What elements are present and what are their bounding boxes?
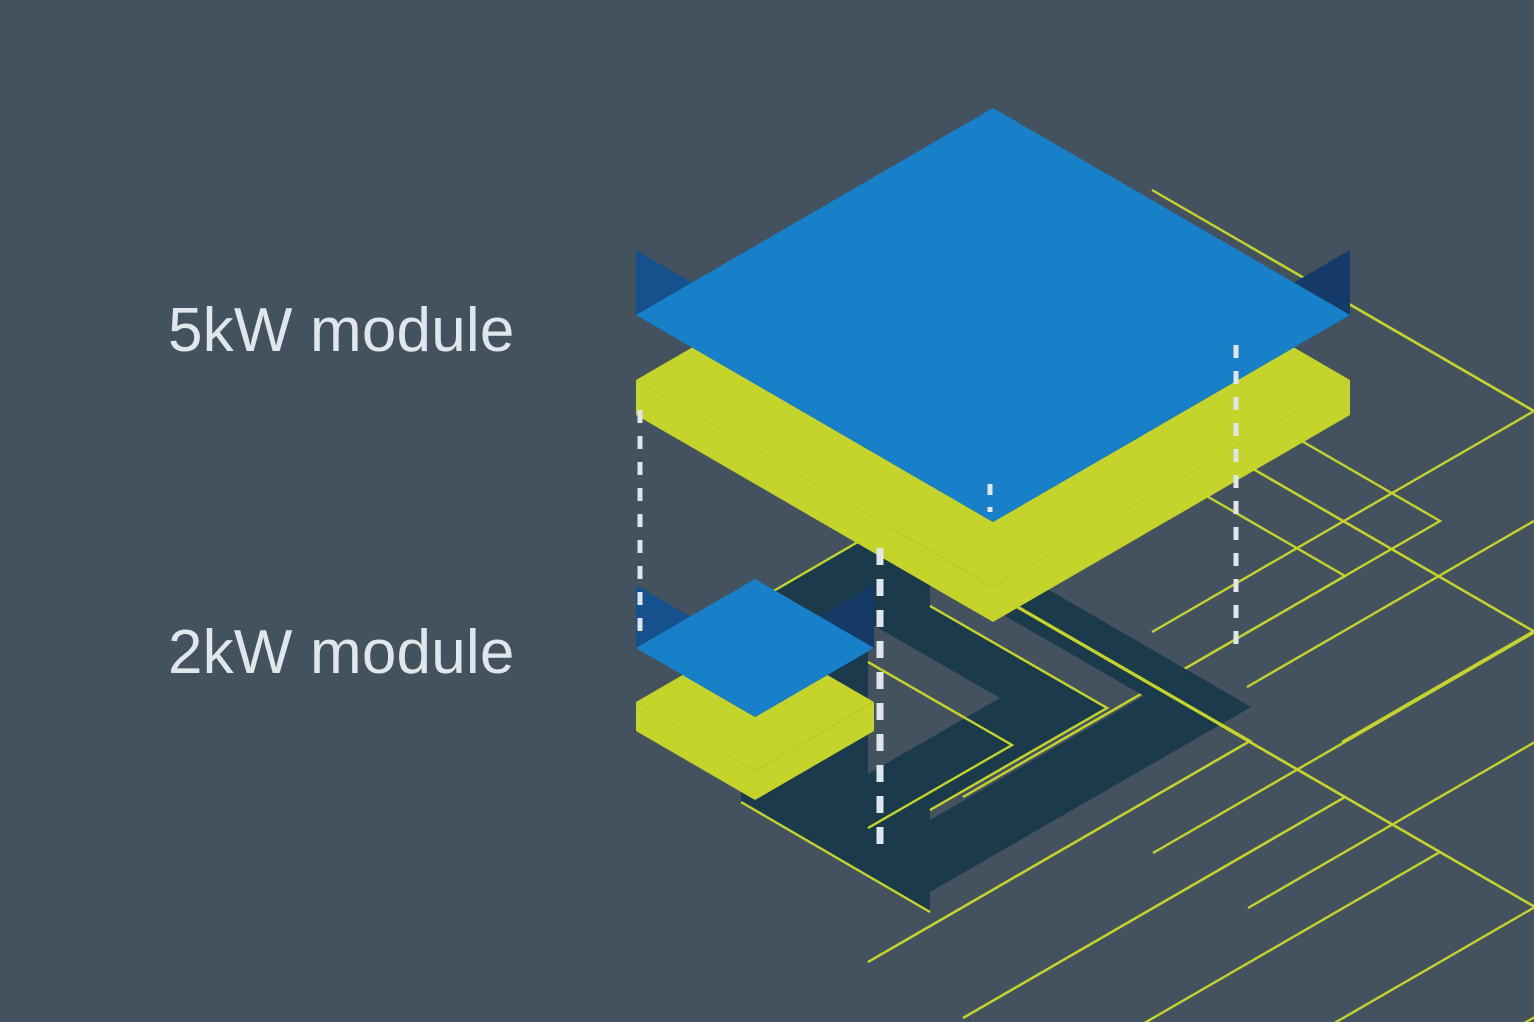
diagram-canvas: 5kW module 2kW module (0, 0, 1534, 1022)
label-module-2kw: 2kW module (168, 622, 515, 684)
background-fill (0, 0, 1534, 1022)
label-module-5kw: 5kW module (168, 300, 515, 362)
isometric-scene (0, 0, 1534, 1022)
